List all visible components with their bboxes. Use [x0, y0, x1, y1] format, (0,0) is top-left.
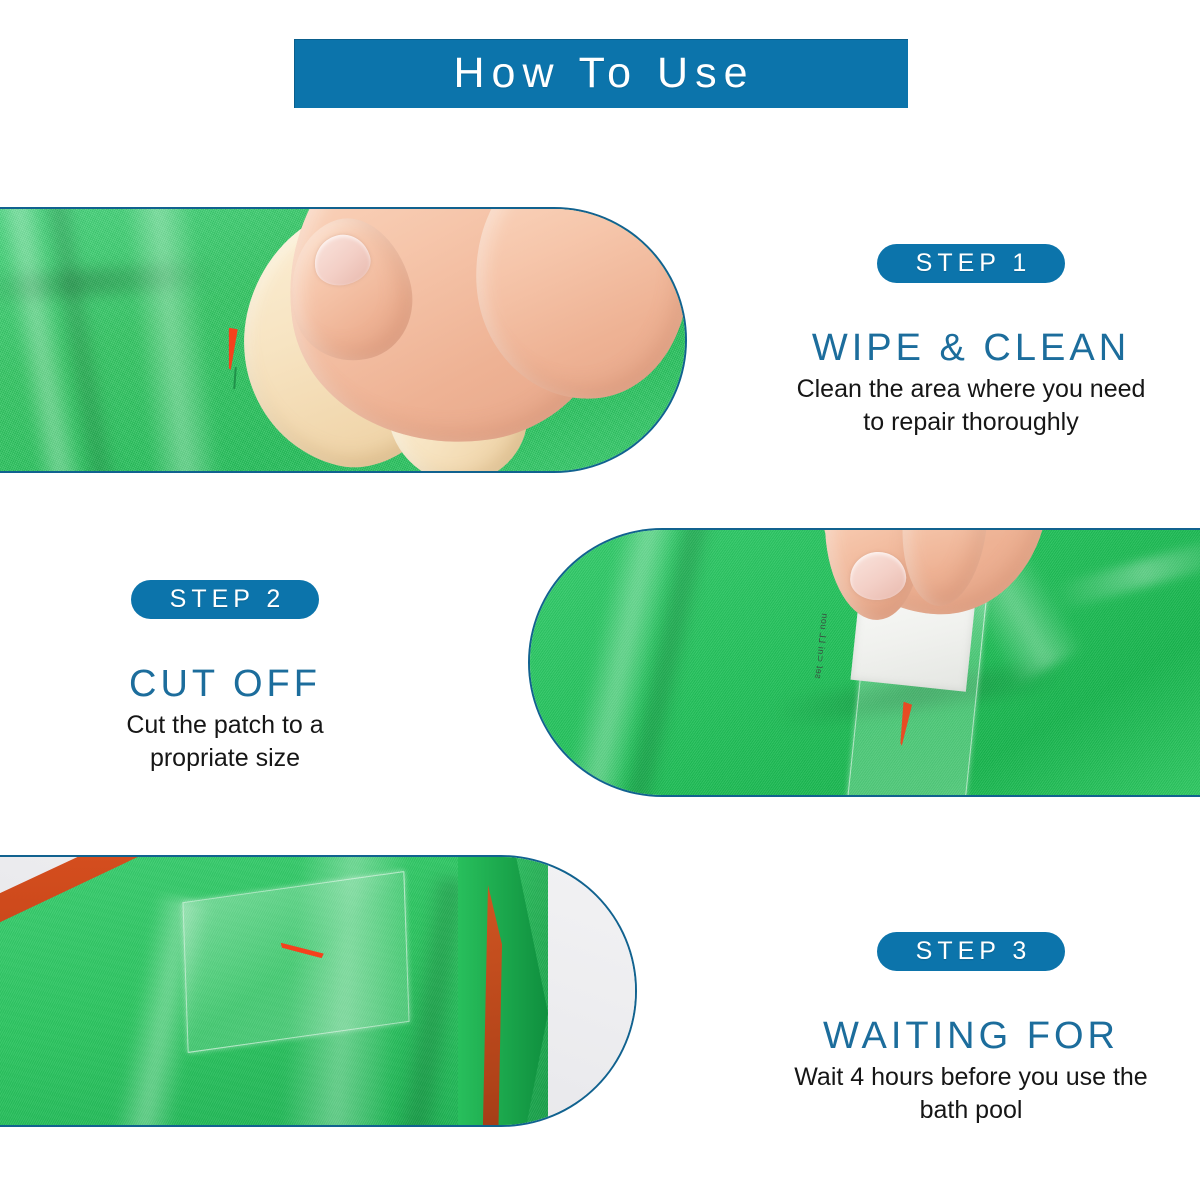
step-2-description-line-2: propriate size	[5, 742, 445, 775]
step-2-description-line-1: Cut the patch to a	[5, 709, 445, 742]
step-1-block: STEP 1 WIPE & CLEAN Clean the area where…	[742, 244, 1200, 439]
page-title-banner: How To Use	[294, 39, 908, 108]
step-2-description: Cut the patch to a propriate size	[5, 709, 445, 775]
page-title: How To Use	[447, 52, 754, 95]
step-1-description-line-1: Clean the area where you need	[742, 373, 1200, 406]
step-3-heading: WAITING FOR	[742, 1017, 1200, 1057]
photo-waiting-for	[0, 857, 635, 1125]
step-1-description-line-2: to repair thoroughly	[742, 406, 1200, 439]
step-1-badge-label: STEP 1	[911, 251, 1032, 276]
step-3-block: STEP 3 WAITING FOR Wait 4 hours before y…	[742, 932, 1200, 1127]
step-2-badge: STEP 2	[131, 580, 320, 619]
step-1-photo	[0, 207, 687, 473]
step-2-block: STEP 2 CUT OFF Cut the patch to a propri…	[5, 580, 445, 775]
step-1-heading: WIPE & CLEAN	[742, 329, 1200, 369]
step-3-photo	[0, 855, 637, 1127]
step-2-photo: nou ⅃⅃ in⊃ ʇɘƨ	[528, 528, 1200, 797]
step-3-badge-label: STEP 3	[911, 939, 1032, 964]
step-3-description-line-2: bath pool	[742, 1094, 1200, 1127]
photo-cut-off: nou ⅃⅃ in⊃ ʇɘƨ	[530, 530, 1200, 795]
step-3-description: Wait 4 hours before you use the bath poo…	[742, 1061, 1200, 1127]
step-3-badge: STEP 3	[877, 932, 1066, 971]
step-2-heading: CUT OFF	[5, 665, 445, 705]
step-3-description-line-1: Wait 4 hours before you use the	[742, 1061, 1200, 1094]
photo-wipe-and-clean	[0, 209, 685, 471]
how-to-use-infographic: { "banner": { "title": "How To Use", "ba…	[0, 0, 1200, 1200]
step-1-description: Clean the area where you need to repair …	[742, 373, 1200, 439]
step-1-badge: STEP 1	[877, 244, 1066, 283]
applied-repair-patch	[182, 871, 409, 1053]
step-2-badge-label: STEP 2	[165, 587, 286, 612]
